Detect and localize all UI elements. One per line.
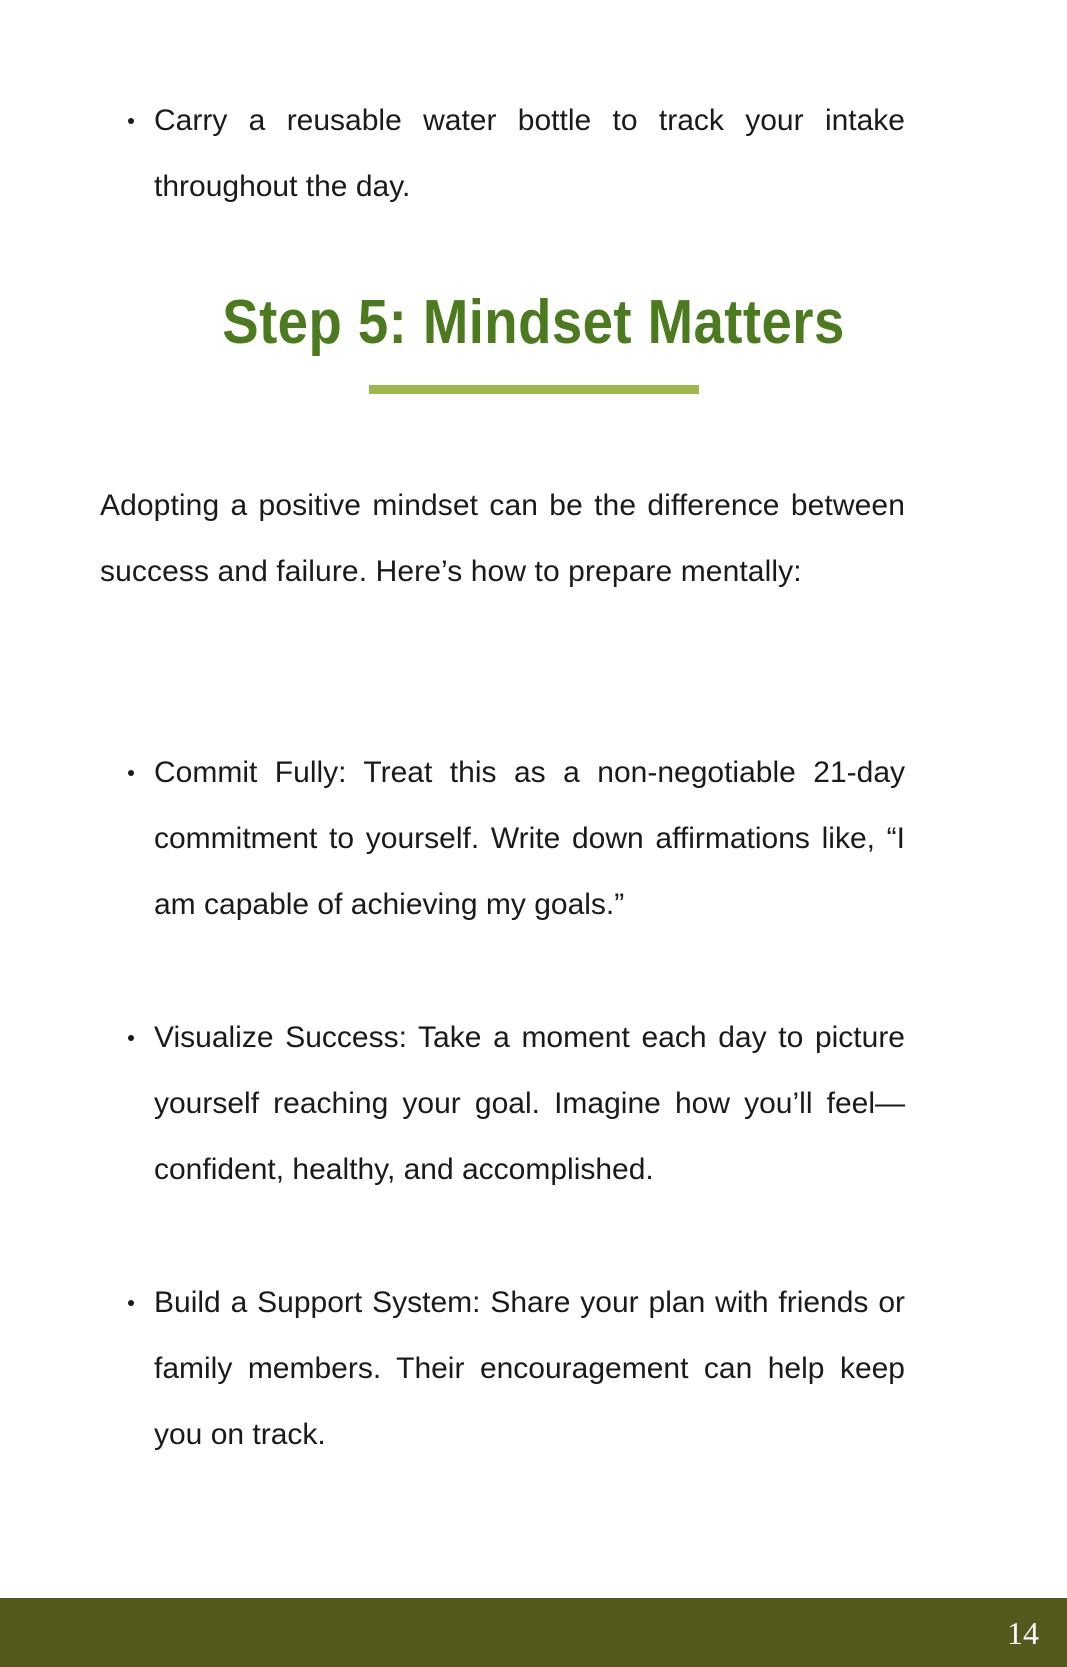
page-number: 14 — [1007, 1617, 1039, 1649]
bullet-dot-icon — [128, 118, 134, 124]
bullet-dot-icon — [128, 770, 134, 776]
heading-divider-rule — [369, 385, 699, 394]
list-item-text: Carry a reusable water bottle to track y… — [154, 104, 905, 203]
list-item-text: Commit Fully: Treat this as a non-negoti… — [154, 756, 905, 921]
list-item: Carry a reusable water bottle to track y… — [100, 88, 905, 220]
bullet-list: Commit Fully: Treat this as a non-negoti… — [100, 740, 905, 1468]
section-heading-block: Step 5: Mindset Matters — [0, 283, 1067, 394]
mindset-bullet-list: Commit Fully: Treat this as a non-negoti… — [100, 740, 905, 1468]
bullet-dot-icon — [128, 1035, 134, 1041]
page-title: Step 5: Mindset Matters — [64, 283, 1003, 363]
intro-paragraph: Adopting a positive mindset can be the d… — [100, 473, 905, 605]
intro-paragraph-block: Adopting a positive mindset can be the d… — [100, 473, 905, 605]
page-footer-bar: 14 — [0, 1598, 1067, 1667]
list-item-text: Visualize Success: Take a moment each da… — [154, 1021, 905, 1186]
list-item-text: Build a Support System: Share your plan … — [154, 1286, 905, 1451]
document-page: Carry a reusable water bottle to track y… — [0, 0, 1067, 1667]
continuation-bullet-block: Carry a reusable water bottle to track y… — [100, 88, 905, 220]
list-item: Build a Support System: Share your plan … — [100, 1270, 905, 1468]
bullet-dot-icon — [128, 1300, 134, 1306]
list-item: Commit Fully: Treat this as a non-negoti… — [100, 740, 905, 938]
list-item: Visualize Success: Take a moment each da… — [100, 1005, 905, 1203]
